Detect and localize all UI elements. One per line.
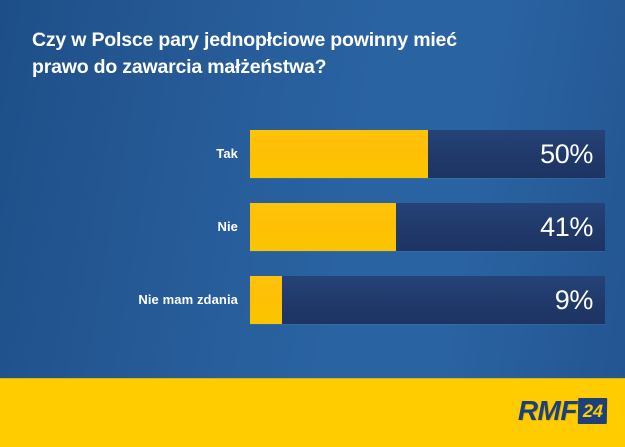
bar-row: Nie 41% xyxy=(0,203,625,251)
infographic-poll-card: Czy w Polsce pary jednopłciowe powinny m… xyxy=(0,0,625,447)
bar-track: 9% xyxy=(250,276,605,324)
title-line-2: prawo do zawarcia małżeństwa? xyxy=(32,54,592,81)
bar-value-nie: 41% xyxy=(540,203,593,251)
bar-label-nie-mam-zdania: Nie mam zdania xyxy=(20,276,238,324)
bar-value-tak: 50% xyxy=(540,130,593,178)
bar-track: 41% xyxy=(250,203,605,251)
footer-band: RMF 24 xyxy=(0,378,625,447)
bar-label-nie: Nie xyxy=(20,203,238,251)
rmf24-logo: RMF 24 xyxy=(518,396,607,426)
bar-value-nie-mam-zdania: 9% xyxy=(555,276,593,324)
bar-fill xyxy=(250,203,396,251)
bar-fill xyxy=(250,130,428,178)
bar-track: 50% xyxy=(250,130,605,178)
title-line-1: Czy w Polsce pary jednopłciowe powinny m… xyxy=(32,27,592,54)
rmf24-badge: 24 xyxy=(578,398,607,424)
bar-label-tak: Tak xyxy=(20,130,238,178)
bar-chart: Tak 50% Nie 41% Nie mam zdania 9% xyxy=(0,122,625,337)
page-title: Czy w Polsce pary jednopłciowe powinny m… xyxy=(32,27,592,81)
bar-row: Tak 50% xyxy=(0,130,625,178)
rmf-wordmark: RMF xyxy=(518,397,577,425)
bar-row: Nie mam zdania 9% xyxy=(0,276,625,324)
bar-fill xyxy=(250,276,282,324)
